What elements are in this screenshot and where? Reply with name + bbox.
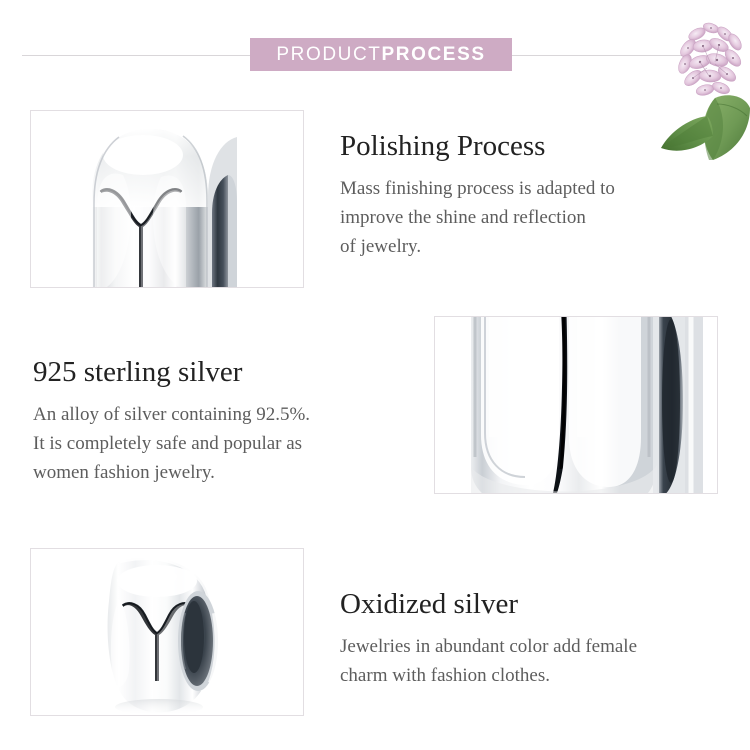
silver-bead-macro-1 (31, 111, 303, 287)
body-line: charm with fashion clothes. (340, 662, 700, 691)
header-rule-right (512, 55, 690, 56)
oxidized-silver-text: Oxidized silver Jewelries in abundant co… (340, 588, 700, 691)
section-heading: 925 sterling silver (33, 356, 363, 389)
polishing-process-photo (30, 110, 304, 288)
polishing-process-text: Polishing Process Mass finishing process… (340, 130, 680, 262)
section-body: Mass finishing process is adapted to imp… (340, 175, 680, 262)
banner-title: PRODUCTPROCESS (276, 44, 485, 66)
blossom-cluster (676, 21, 744, 97)
section-heading: Oxidized silver (340, 588, 700, 621)
section-body: An alloy of silver containing 92.5%. It … (33, 401, 363, 488)
sterling-silver-photo (434, 316, 718, 494)
page-header: PRODUCTPROCESS (0, 0, 750, 100)
oxidized-silver-photo (30, 548, 304, 716)
body-line: Mass finishing process is adapted to (340, 175, 680, 204)
body-line: women fashion jewelry. (33, 459, 363, 488)
body-line: An alloy of silver containing 92.5%. (33, 401, 363, 430)
section-heading: Polishing Process (340, 130, 680, 163)
product-process-banner: PRODUCTPROCESS (250, 38, 512, 71)
body-line: improve the shine and reflection (340, 204, 680, 233)
header-rule-left (22, 55, 250, 56)
silver-bead-full-3 (31, 549, 303, 715)
banner-title-light: PRODUCT (276, 44, 381, 65)
body-line: Jewelries in abundant color add female (340, 633, 700, 662)
body-line: It is completely safe and popular as (33, 430, 363, 459)
section-body: Jewelries in abundant color add female c… (340, 633, 700, 691)
banner-title-bold: PROCESS (382, 44, 486, 65)
silver-bead-macro-2 (435, 317, 717, 493)
sterling-silver-text: 925 sterling silver An alloy of silver c… (33, 356, 363, 488)
body-line: of jewelry. (340, 233, 680, 262)
